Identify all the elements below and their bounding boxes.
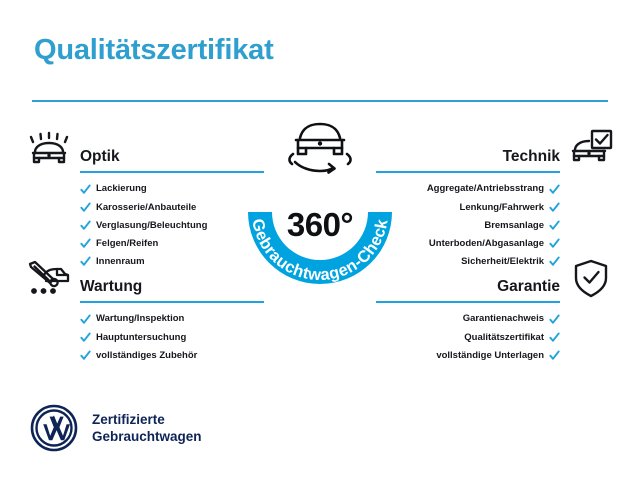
list-item-label: Garantienachweis [463,314,544,324]
check-icon [549,202,560,213]
list-item-label: Lackierung [96,184,147,194]
check-icon [80,238,91,249]
list-item-label: vollständige Unterlagen [436,351,544,361]
list-item-label: Verglasung/Beleuchtung [96,221,207,231]
quality-certificate-page: Qualitätszertifikat [0,0,640,480]
car-shine-icon [26,128,72,170]
badge-center-label: 360° [228,206,412,244]
check-icon [80,350,91,361]
check-icon [549,184,560,195]
footer-text: Zertifizierte Gebrauchtwagen [92,411,202,446]
check-list: Garantienachweis Qualitätszertifikat vol… [376,310,616,365]
list-item: vollständige Unterlagen [376,346,616,364]
list-item: Unterboden/Abgasanlage [376,235,616,253]
check-icon [80,184,91,195]
check-icon [549,238,560,249]
section-header: Technik [376,128,616,174]
list-item: Wartung/Inspektion [24,310,264,328]
list-item: Aggregate/Antriebsstrang [376,180,616,198]
shield-check-icon [568,258,614,300]
vw-certified-lockup: Zertifizierte Gebrauchtwagen [30,404,202,452]
list-item: Garantienachweis [376,310,616,328]
check-list: Wartung/Inspektion Hauptuntersuchung vol… [24,310,264,365]
section-garantie: Garantie Garantienachweis Qualitätszerti… [376,258,616,365]
section-title: Wartung [80,278,142,296]
check-icon [549,350,560,361]
check-icon [80,202,91,213]
list-item: Bremsanlage [376,216,616,234]
check-icon [80,220,91,231]
list-item: vollständiges Zubehör [24,346,264,364]
car-wrench-icon [26,258,72,300]
list-item-label: Qualitätszertifikat [464,333,544,343]
check-icon [80,314,91,325]
title-divider [32,100,608,102]
check-icon [80,332,91,343]
list-item-label: Unterboden/Abgasanlage [429,239,544,249]
footer-line-1: Zertifizierte [92,412,165,427]
list-item-label: Hauptuntersuchung [96,333,186,343]
list-item-label: vollständiges Zubehör [96,351,197,361]
car-checkbox-icon [568,128,614,170]
check-icon [549,220,560,231]
check-icon [549,332,560,343]
section-title: Garantie [497,278,560,296]
section-header: Garantie [376,258,616,304]
section-title: Technik [503,148,560,166]
list-item-label: Felgen/Reifen [96,239,158,249]
list-item-label: Bremsanlage [484,221,544,231]
footer-line-2: Gebrauchtwagen [92,429,202,444]
list-item-label: Aggregate/Antriebsstrang [427,184,544,194]
vw-logo [30,404,78,452]
page-title: Qualitätszertifikat [34,34,274,67]
list-item: Lenkung/Fahrwerk [376,198,616,216]
list-item: Hauptuntersuchung [24,328,264,346]
section-title: Optik [80,148,120,166]
list-item-label: Lenkung/Fahrwerk [460,203,544,213]
car-rotate-360-icon [283,116,357,178]
section-technik: Technik Aggregate/Antriebsstrang Lenkung… [376,128,616,271]
list-item-label: Wartung/Inspektion [96,314,184,324]
badge-360-gebrauchtwagen-check: Gebrauchtwagen-Check 360° [228,120,412,304]
check-icon [549,314,560,325]
list-item-label: Karosserie/Anbauteile [96,203,196,213]
list-item: Qualitätszertifikat [376,328,616,346]
